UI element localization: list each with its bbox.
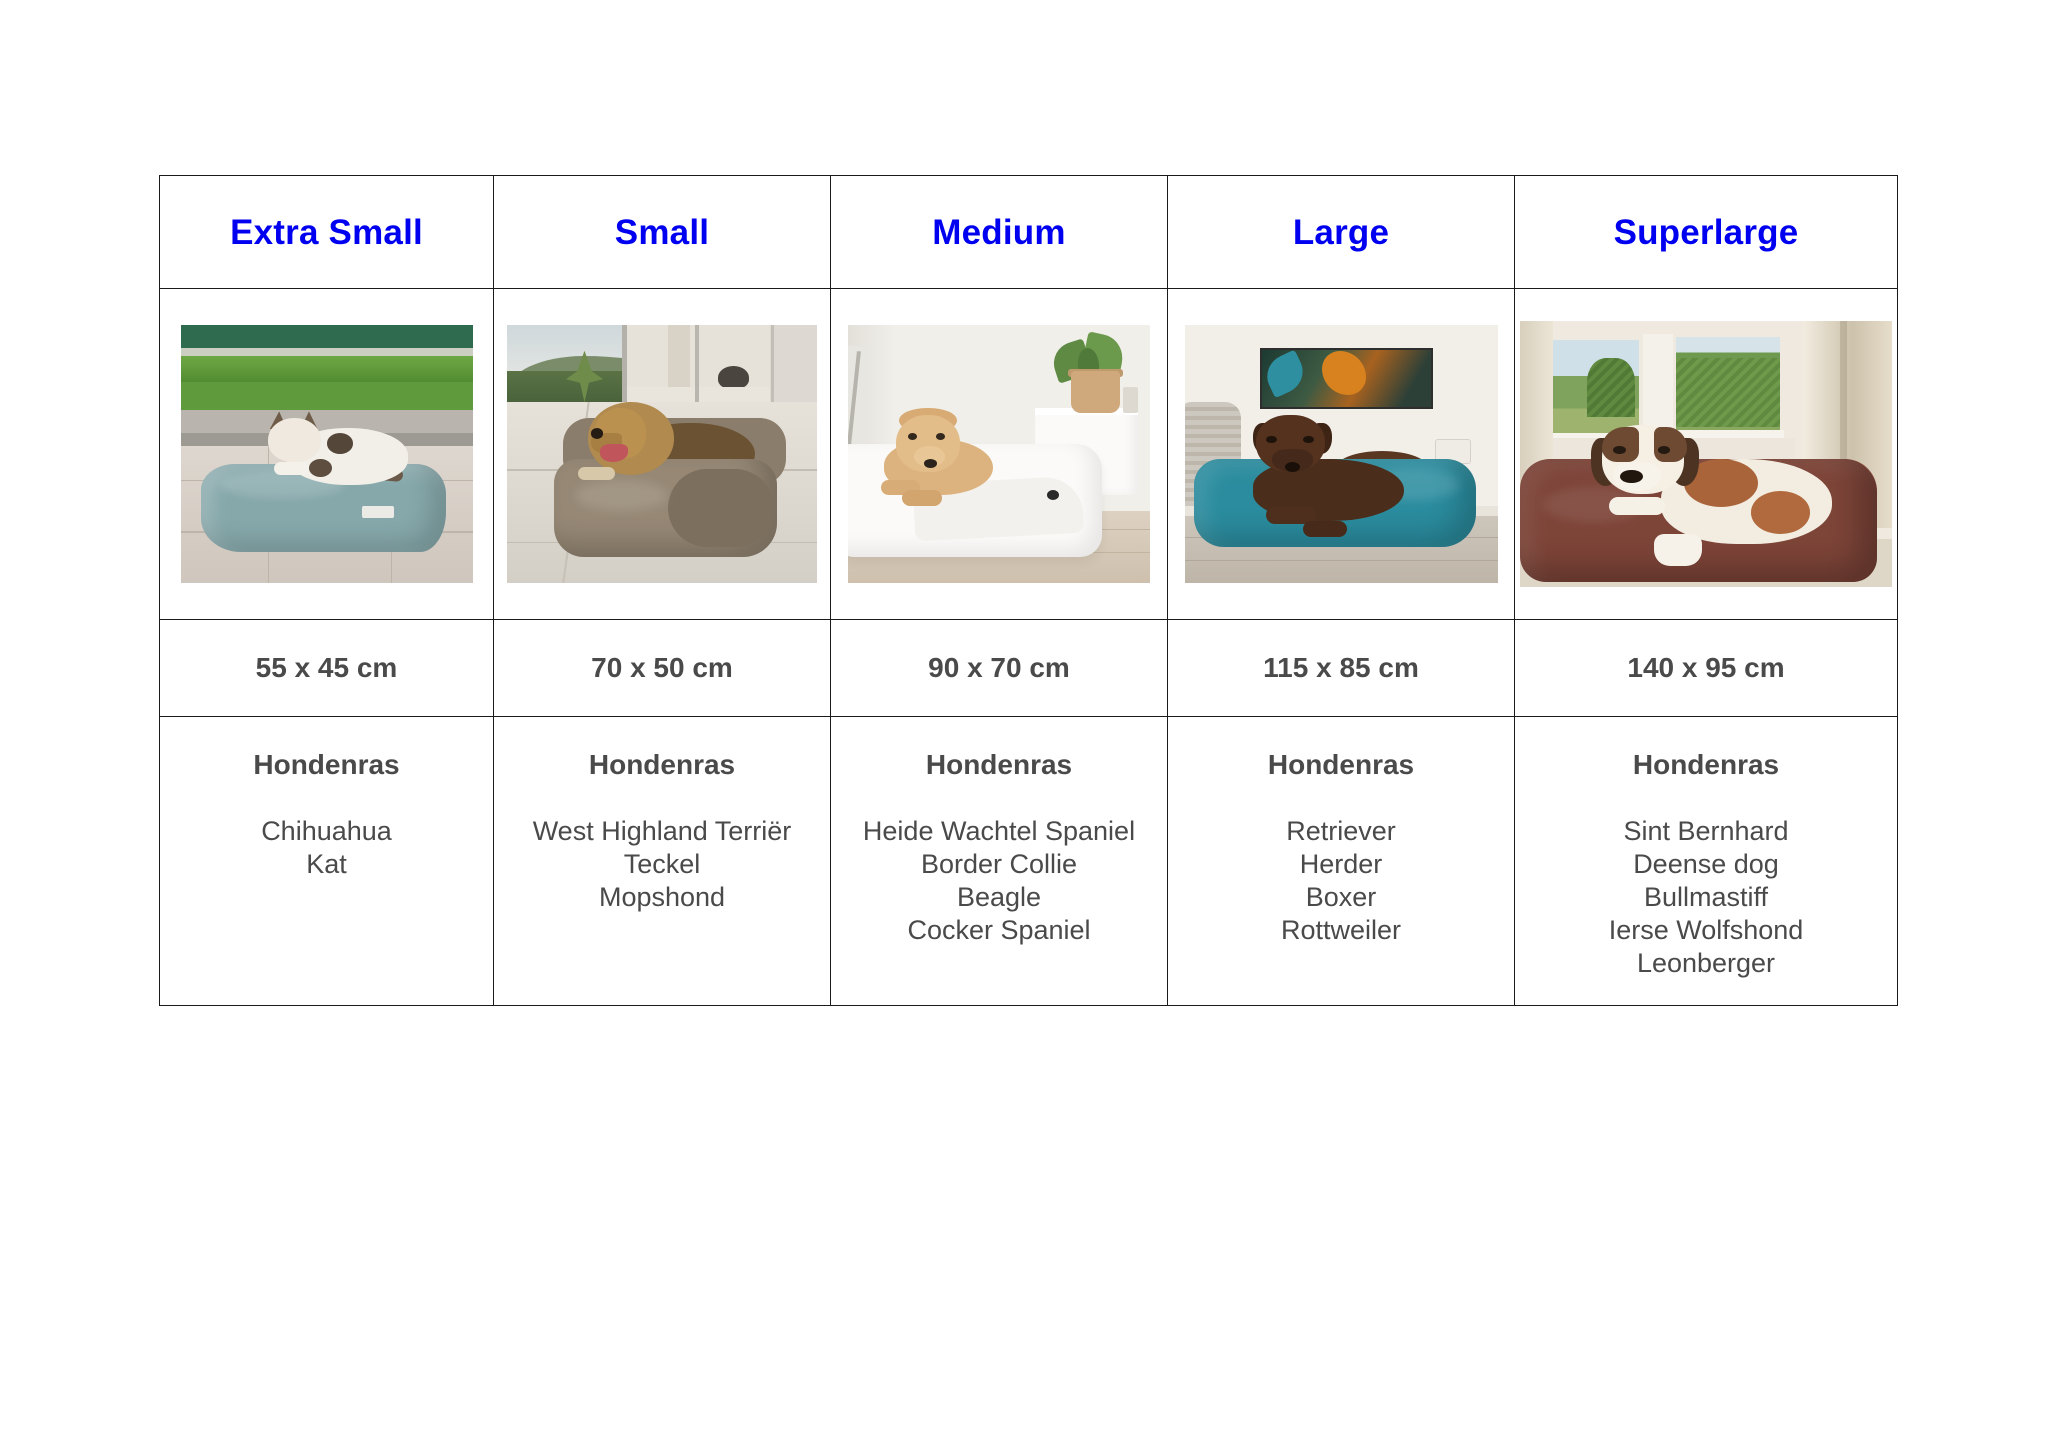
header-cell-small: Small — [494, 176, 831, 289]
photo-cell-superlarge — [1515, 289, 1898, 620]
breed-cell-large: Hondenras Retriever Herder Boxer Rottwei… — [1168, 717, 1515, 1006]
breed-item: Leonberger — [1515, 947, 1897, 980]
size-header-label: Small — [494, 215, 830, 250]
table-dimension-row: 55 x 45 cm 70 x 50 cm 90 x 70 cm 115 x 8… — [160, 620, 1898, 717]
dimension-label: 115 x 85 cm — [1168, 652, 1514, 684]
breed-item: Mopshond — [494, 881, 830, 914]
product-photo-extra-small — [181, 325, 473, 583]
size-header-label: Large — [1168, 215, 1514, 250]
breed-item: Herder — [1168, 848, 1514, 881]
header-cell-extra-small: Extra Small — [160, 176, 494, 289]
dimension-label: 90 x 70 cm — [831, 652, 1167, 684]
breed-item: Heide Wachtel Spaniel — [831, 815, 1167, 848]
breed-list-superlarge: Sint Bernhard Deense dog Bullmastiff Ier… — [1515, 815, 1897, 980]
breed-item: Border Collie — [831, 848, 1167, 881]
size-header-label: Medium — [831, 215, 1167, 250]
photo-cell-large — [1168, 289, 1515, 620]
header-cell-large: Large — [1168, 176, 1515, 289]
breed-item: Rottweiler — [1168, 914, 1514, 947]
product-photo-superlarge — [1520, 321, 1892, 587]
table-breed-row: Hondenras Chihuahua Kat Hondenras West H… — [160, 717, 1898, 1006]
breed-section-title: Hondenras — [1515, 749, 1897, 781]
breed-cell-medium: Hondenras Heide Wachtel Spaniel Border C… — [831, 717, 1168, 1006]
dimension-cell-small: 70 x 50 cm — [494, 620, 831, 717]
header-cell-superlarge: Superlarge — [1515, 176, 1898, 289]
breed-list-medium: Heide Wachtel Spaniel Border Collie Beag… — [831, 815, 1167, 947]
breed-section-title: Hondenras — [160, 749, 493, 781]
breed-section-title: Hondenras — [494, 749, 830, 781]
dimension-label: 140 x 95 cm — [1515, 652, 1897, 684]
product-photo-large — [1185, 325, 1498, 583]
photo-cell-extra-small — [160, 289, 494, 620]
document-page: Extra Small Small Medium Large Superlarg… — [0, 0, 2048, 1448]
dimension-label: 55 x 45 cm — [160, 652, 493, 684]
breed-item: Bullmastiff — [1515, 881, 1897, 914]
dimension-cell-extra-small: 55 x 45 cm — [160, 620, 494, 717]
photo-cell-medium — [831, 289, 1168, 620]
table-header-row: Extra Small Small Medium Large Superlarg… — [160, 176, 1898, 289]
table-photo-row — [160, 289, 1898, 620]
product-photo-medium — [848, 325, 1150, 583]
breed-item: Ierse Wolfshond — [1515, 914, 1897, 947]
dimension-cell-superlarge: 140 x 95 cm — [1515, 620, 1898, 717]
dimension-cell-large: 115 x 85 cm — [1168, 620, 1515, 717]
breed-item: Beagle — [831, 881, 1167, 914]
breed-section-title: Hondenras — [1168, 749, 1514, 781]
breed-item: Teckel — [494, 848, 830, 881]
breed-cell-small: Hondenras West Highland Terriër Teckel M… — [494, 717, 831, 1006]
breed-item: Deense dog — [1515, 848, 1897, 881]
dimension-label: 70 x 50 cm — [494, 652, 830, 684]
photo-cell-small — [494, 289, 831, 620]
breed-section-title: Hondenras — [831, 749, 1167, 781]
breed-item: Kat — [160, 848, 493, 881]
size-header-label: Superlarge — [1515, 215, 1897, 250]
breed-list-extra-small: Chihuahua Kat — [160, 815, 493, 881]
breed-item: Cocker Spaniel — [831, 914, 1167, 947]
breed-item: Boxer — [1168, 881, 1514, 914]
dimension-cell-medium: 90 x 70 cm — [831, 620, 1168, 717]
product-photo-small — [507, 325, 817, 583]
breed-cell-extra-small: Hondenras Chihuahua Kat — [160, 717, 494, 1006]
header-cell-medium: Medium — [831, 176, 1168, 289]
breed-item: Sint Bernhard — [1515, 815, 1897, 848]
breed-item: Retriever — [1168, 815, 1514, 848]
breed-list-small: West Highland Terriër Teckel Mopshond — [494, 815, 830, 914]
size-header-label: Extra Small — [160, 215, 493, 250]
breed-item: Chihuahua — [160, 815, 493, 848]
dog-bed-size-table: Extra Small Small Medium Large Superlarg… — [159, 175, 1898, 1006]
breed-item: West Highland Terriër — [494, 815, 830, 848]
breed-cell-superlarge: Hondenras Sint Bernhard Deense dog Bullm… — [1515, 717, 1898, 1006]
breed-list-large: Retriever Herder Boxer Rottweiler — [1168, 815, 1514, 947]
